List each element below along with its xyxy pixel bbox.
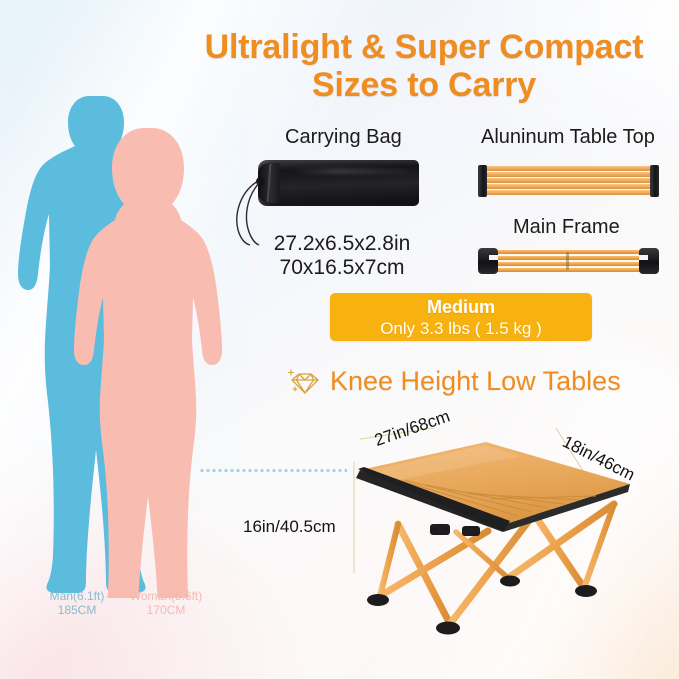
height-comparison-silhouettes (16, 78, 246, 603)
main-frame-label: Main Frame (513, 216, 620, 239)
knee-height-heading: Knee Height Low Tables (288, 366, 621, 397)
aluminum-table-top-label: Aluninum Table Top (481, 126, 655, 149)
folded-frame-poles-icon (478, 246, 659, 276)
table-height-dimension: 16in/40.5cm (243, 517, 336, 537)
frame-center-joint (566, 252, 569, 270)
man-label: Man(6.1ft) 185CM (34, 589, 120, 617)
woman-name: Woman(5.6ft) (130, 589, 202, 603)
carrying-bag-label: Carrying Bag (285, 126, 402, 149)
slat-end-cap-right (650, 165, 659, 197)
carrying-bag-icon (258, 160, 419, 206)
slat-end-cap-left (478, 165, 487, 197)
woman-height: 170CM (147, 603, 186, 617)
badge-weight-label: Only 3.3 lbs ( 1.5 kg ) (330, 318, 592, 339)
page-title: Ultralight & Super Compact Sizes to Carr… (176, 28, 672, 104)
title-line-1: Ultralight & Super Compact (205, 28, 644, 66)
frame-hub-left (478, 248, 498, 274)
knee-height-dotted-line (199, 469, 347, 472)
woman-label: Woman(5.6ft) 170CM (118, 589, 214, 617)
bag-highlight (290, 168, 410, 174)
frame-hub-right (639, 248, 659, 274)
bag-dimensions-inches: 27.2x6.5x2.8in (262, 232, 422, 256)
knee-height-text: Knee Height Low Tables (330, 366, 621, 397)
size-badge: Medium Only 3.3 lbs ( 1.5 kg ) (330, 293, 592, 341)
badge-size-label: Medium (330, 293, 592, 318)
man-height: 185CM (58, 603, 97, 617)
bag-dimensions-cm: 70x16.5x7cm (262, 256, 422, 280)
man-name: Man(6.1ft) (50, 589, 105, 603)
diamond-gem-icon (288, 367, 322, 397)
rolled-aluminum-slats-icon (478, 165, 659, 197)
infographic-canvas: Ultralight & Super Compact Sizes to Carr… (0, 0, 679, 679)
title-line-2: Sizes to Carry (176, 66, 672, 104)
